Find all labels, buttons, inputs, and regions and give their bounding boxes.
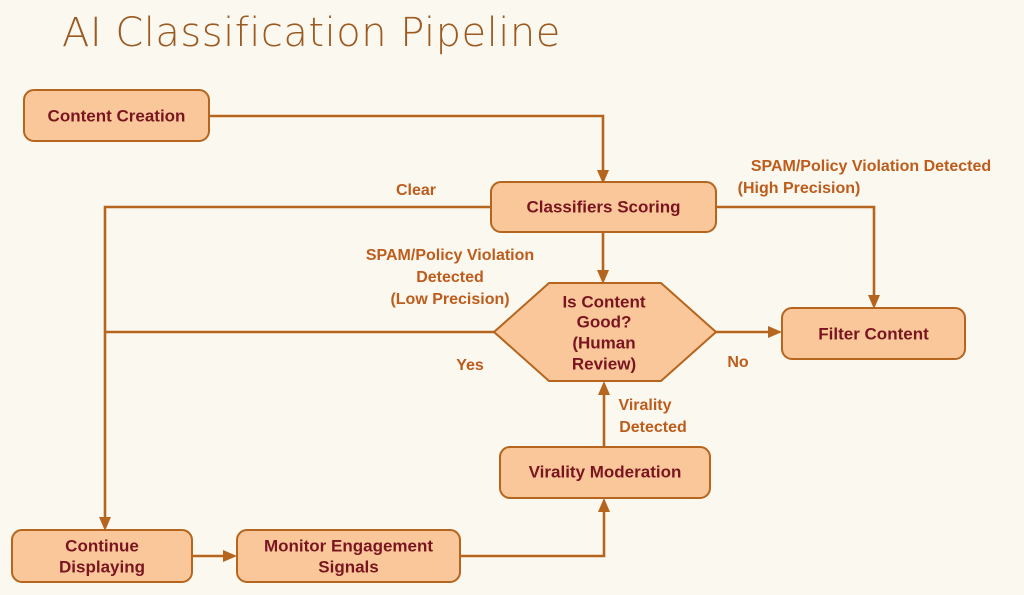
node-label-line-2: Good? xyxy=(577,312,632,331)
node-label-line-1: Is Content xyxy=(562,292,645,311)
edge-content-creation-to-classifiers xyxy=(209,116,609,184)
node-filter-content[interactable]: Filter Content xyxy=(782,308,965,359)
edge-label-virality-line-2: Detected xyxy=(619,419,687,436)
node-monitor-engagement-signals[interactable]: Monitor Engagement Signals xyxy=(237,530,460,582)
arrowhead-icon xyxy=(99,517,111,531)
edge-label-spam-high-line-2: (High Precision) xyxy=(738,180,861,197)
edge-monitor-to-virality xyxy=(460,498,610,556)
flowchart-svg: Content Creation Classifiers Scoring Is … xyxy=(0,0,1024,595)
node-classifiers-scoring[interactable]: Classifiers Scoring xyxy=(491,182,716,232)
edge-classifiers-to-decision-low-precision xyxy=(597,231,609,284)
edge-label-virality-line-1: Virality xyxy=(618,397,671,414)
edge-path xyxy=(460,506,604,556)
edge-label-yes: Yes xyxy=(456,357,484,374)
edge-continue-to-monitor xyxy=(192,550,237,562)
node-continue-displaying[interactable]: Continue Displaying xyxy=(12,530,192,582)
arrowhead-icon xyxy=(768,326,782,338)
arrowhead-icon xyxy=(223,550,237,562)
node-label: Content Creation xyxy=(48,106,186,125)
node-label-line-4: Review) xyxy=(572,354,636,373)
node-label: Virality Moderation xyxy=(529,462,682,481)
edge-classifiers-to-filter-high-precision xyxy=(716,207,880,309)
edge-label-spam-high-line-1: SPAM/Policy Violation Detected xyxy=(751,158,991,175)
edge-path xyxy=(209,116,603,176)
edge-decision-to-filter-no xyxy=(716,326,782,338)
arrowhead-icon xyxy=(598,498,610,512)
edge-path xyxy=(716,207,874,301)
edge-virality-to-decision xyxy=(598,381,610,447)
arrowhead-icon xyxy=(868,295,880,309)
edge-label-clear: Clear xyxy=(396,182,436,199)
flowchart-canvas: AI Classification Pipeline xyxy=(0,0,1024,595)
node-label-line-1: Continue xyxy=(65,536,139,555)
node-label-line-1: Monitor Engagement xyxy=(264,536,433,555)
node-label-line-3: (Human xyxy=(572,333,635,352)
node-virality-moderation[interactable]: Virality Moderation xyxy=(500,447,710,498)
arrowhead-icon xyxy=(597,270,609,284)
node-is-content-good-decision[interactable]: Is Content Good? (Human Review) xyxy=(494,283,716,381)
node-label: Classifiers Scoring xyxy=(526,197,680,216)
arrowhead-icon xyxy=(598,381,610,395)
edge-label-no: No xyxy=(727,354,749,371)
node-label-line-2: Signals xyxy=(318,557,378,576)
edge-label-spam-low-line-3: (Low Precision) xyxy=(390,291,509,308)
edge-label-spam-low-line-1: SPAM/Policy Violation xyxy=(366,247,534,264)
node-label: Filter Content xyxy=(818,324,929,343)
edge-label-spam-low-line-2: Detected xyxy=(416,269,484,286)
node-content-creation[interactable]: Content Creation xyxy=(24,90,209,141)
node-label-line-2: Displaying xyxy=(59,557,145,576)
